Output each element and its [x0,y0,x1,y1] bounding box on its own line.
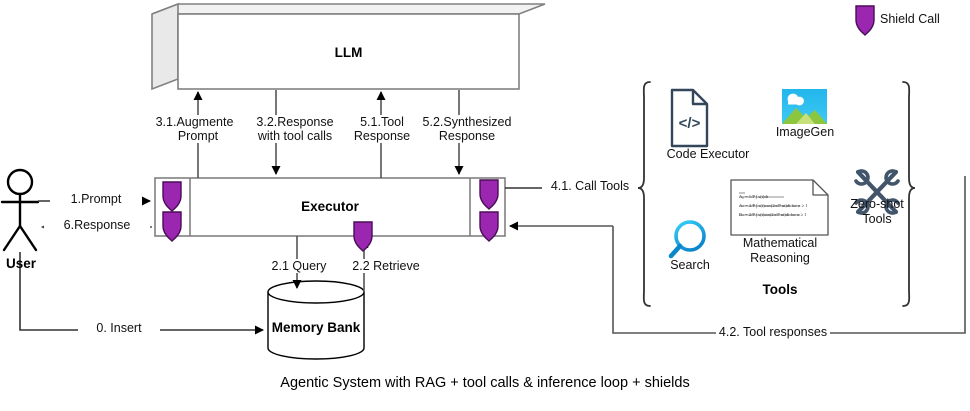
llm-label: LLM [178,45,519,60]
executor-label: Executor [190,199,470,214]
edge-label-prompt: 1.Prompt [50,192,142,206]
edge-label-insert: 0. Insert [78,321,160,335]
edge-label-synthesized-response: 5.2.Synthesized Response [412,115,522,143]
edge-label-response-with-tool-calls: 3.2.Response with tool calls [234,115,356,143]
code-document-icon: </> [672,90,707,146]
insert-connector [20,252,263,330]
tools-brace-right [903,82,915,306]
diagram-canvas: </> [0,0,970,411]
image-picture-icon [782,89,827,124]
diagram-vector-layer: </> [0,0,970,411]
edge-label-tool-responses: 4.2. Tool responses [716,325,830,339]
tools-brace-left [638,82,650,306]
user-label: User [0,256,42,271]
math-document-icon: A₀ = 1/P ∫ s(t)dt Aₙ = 2/P ∫ s(t)cos(2π/… [731,180,828,235]
shield-legend-label: Shield Call [880,12,960,26]
shield-executor-memory [354,222,372,251]
tool-label-mathematical-reasoning: Mathematical Reasoning [724,236,836,266]
svg-text:</>: </> [679,115,701,132]
tools-title: Tools [700,282,860,297]
tool-label-zero-shot-tools: Zero-shot Tools [842,197,912,227]
edge-label-retrieve: 2.2 Retrieve [338,259,434,273]
tool-label-imagegen: ImageGen [774,125,836,140]
tool-label-code-executor: Code Executor [650,147,766,162]
diagram-caption: Agentic System with RAG + tool calls & i… [0,375,970,391]
magnifier-icon [671,222,704,256]
user-stick-figure [2,170,38,250]
tool-label-search: Search [660,258,720,273]
edge-label-response: 6.Response [44,218,150,232]
shield-legend-icon [856,6,874,35]
edge-label-call-tools: 4.1. Call Tools [542,179,638,193]
memory-bank-label: Memory Bank [268,320,364,335]
edge-label-query: 2.1 Query [256,259,342,273]
